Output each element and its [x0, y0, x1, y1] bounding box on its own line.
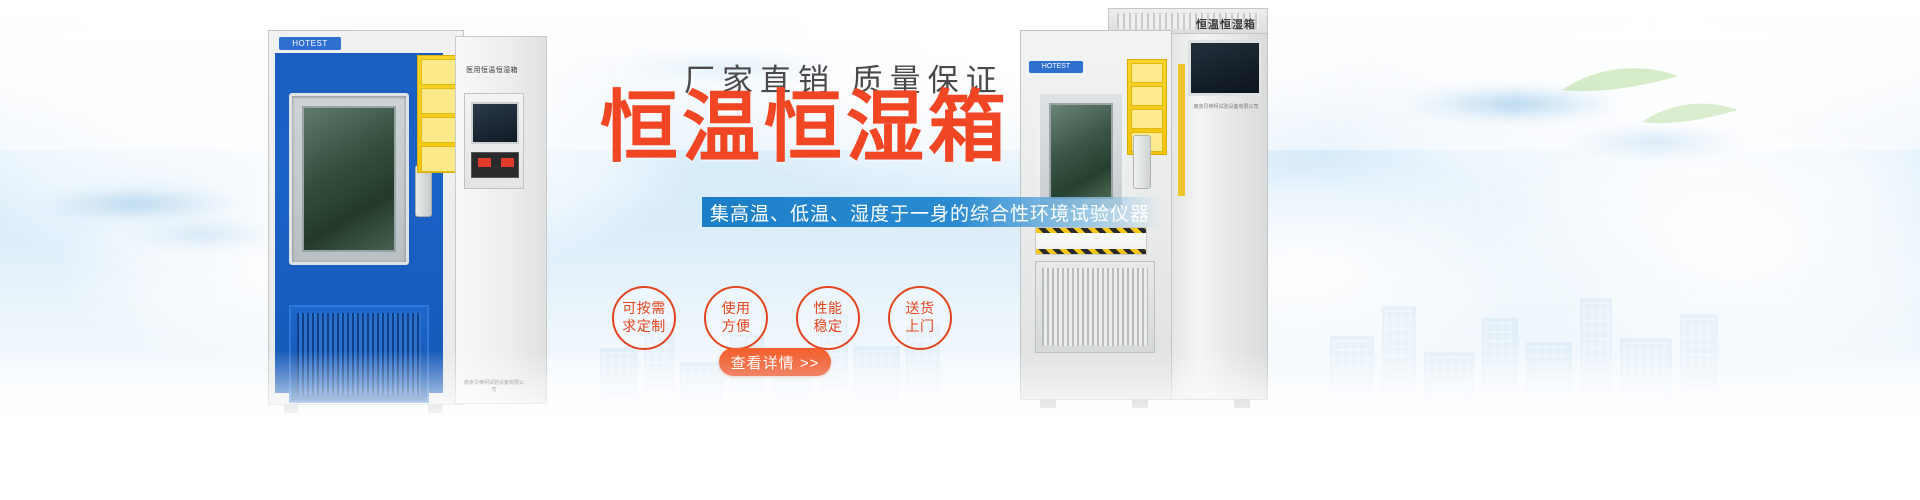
feature-badge-custom[interactable]: 可按需 求定制	[612, 286, 676, 350]
banner-title: 恒温恒湿箱	[600, 88, 1010, 166]
banner-subtitle-text: 集高温、低温、湿度于一身的综合性环境试验仪器	[710, 199, 1150, 226]
banner-copy: 厂家直销 质量保证 恒温恒湿箱 集高温、低温、湿度于一身的综合性环境试验仪器 可…	[0, 0, 1920, 500]
badge-line-1: 性能	[814, 300, 843, 318]
promo-banner: HOTEST 医用恒温恒湿箱	[0, 0, 1920, 500]
feature-badge-stable[interactable]: 性能 稳定	[796, 286, 860, 350]
feature-badge-easy-use[interactable]: 使用 方便	[704, 286, 768, 350]
feature-badge-delivery[interactable]: 送货 上门	[888, 286, 952, 350]
badge-line-2: 上门	[906, 318, 935, 336]
badge-line-1: 可按需	[622, 300, 666, 318]
banner-subtitle-bar: 集高温、低温、湿度于一身的综合性环境试验仪器	[702, 197, 1160, 227]
badge-line-2: 稳定	[814, 318, 843, 336]
badge-line-1: 使用	[722, 300, 751, 318]
badge-line-2: 求定制	[622, 318, 666, 336]
badge-line-1: 送货	[906, 300, 935, 318]
badge-line-2: 方便	[722, 318, 751, 336]
view-details-button[interactable]: 查看详情 >>	[719, 348, 831, 376]
feature-badge-list: 可按需 求定制 使用 方便 性能 稳定 送货 上门	[612, 286, 952, 350]
